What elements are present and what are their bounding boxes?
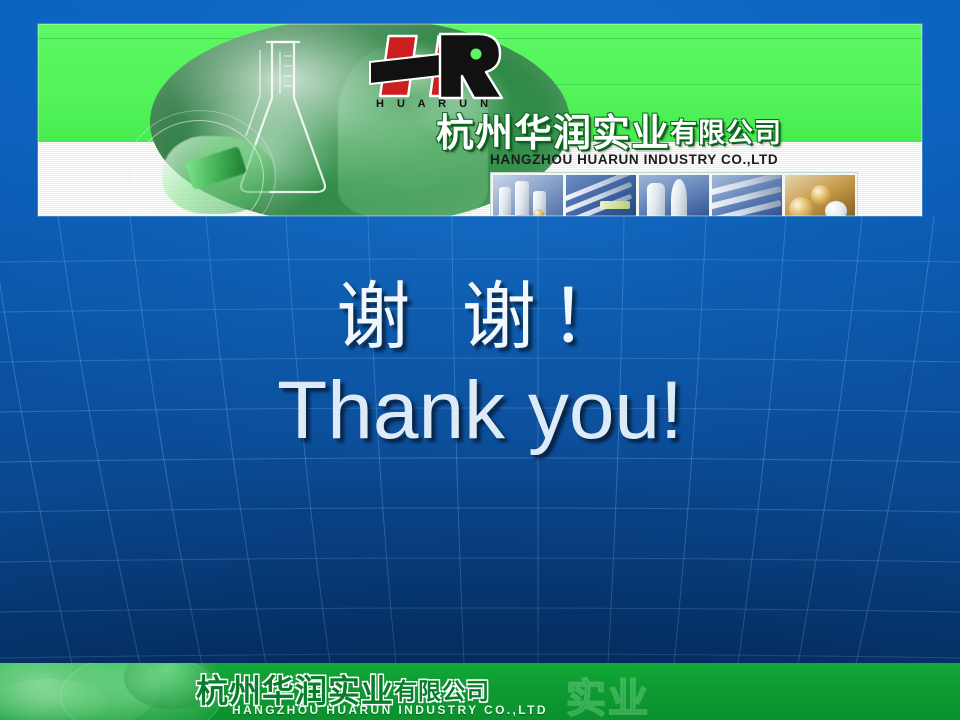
footer-banner: 实业 杭州华润实业有限公司 HANGZHOU HUARUN INDUSTRY C… <box>0 663 960 720</box>
product-photo-prefilled-syringes <box>712 175 782 216</box>
header-company-name-cn-suffix: 有限公司 <box>670 118 782 149</box>
footer-company-name-en: HANGZHOU HUARUN INDUSTRY CO.,LTD <box>232 703 548 717</box>
product-photo-pump-spray-bottles <box>493 175 563 216</box>
footer-company-name-cn-suffix: 有限公司 <box>394 679 490 705</box>
header-company-name-cn: 杭州华润实业有限公司 <box>436 102 782 157</box>
footer-watermark-text: 实业 <box>566 666 650 720</box>
header-company-name-cn-main: 杭州华润实业 <box>436 111 670 155</box>
product-photo-amber-jars <box>785 175 855 216</box>
product-photo-syringe-barrels <box>566 175 636 216</box>
slide-title-english: Thank you! <box>0 370 960 452</box>
header-banner: H U A R U N 杭州华润实业有限公司 HANGZHOU HUARUN I… <box>38 24 922 216</box>
presentation-slide: H U A R U N 杭州华润实业有限公司 HANGZHOU HUARUN I… <box>0 0 960 720</box>
header-product-photo-strip <box>490 172 858 216</box>
slide-body: 谢 谢！ Thank you! <box>0 278 960 452</box>
product-photo-dropper-bottles <box>639 175 709 216</box>
slide-title-chinese: 谢 谢！ <box>0 278 960 356</box>
header-company-name-en: HANGZHOU HUARUN INDUSTRY CO.,LTD <box>490 152 778 167</box>
